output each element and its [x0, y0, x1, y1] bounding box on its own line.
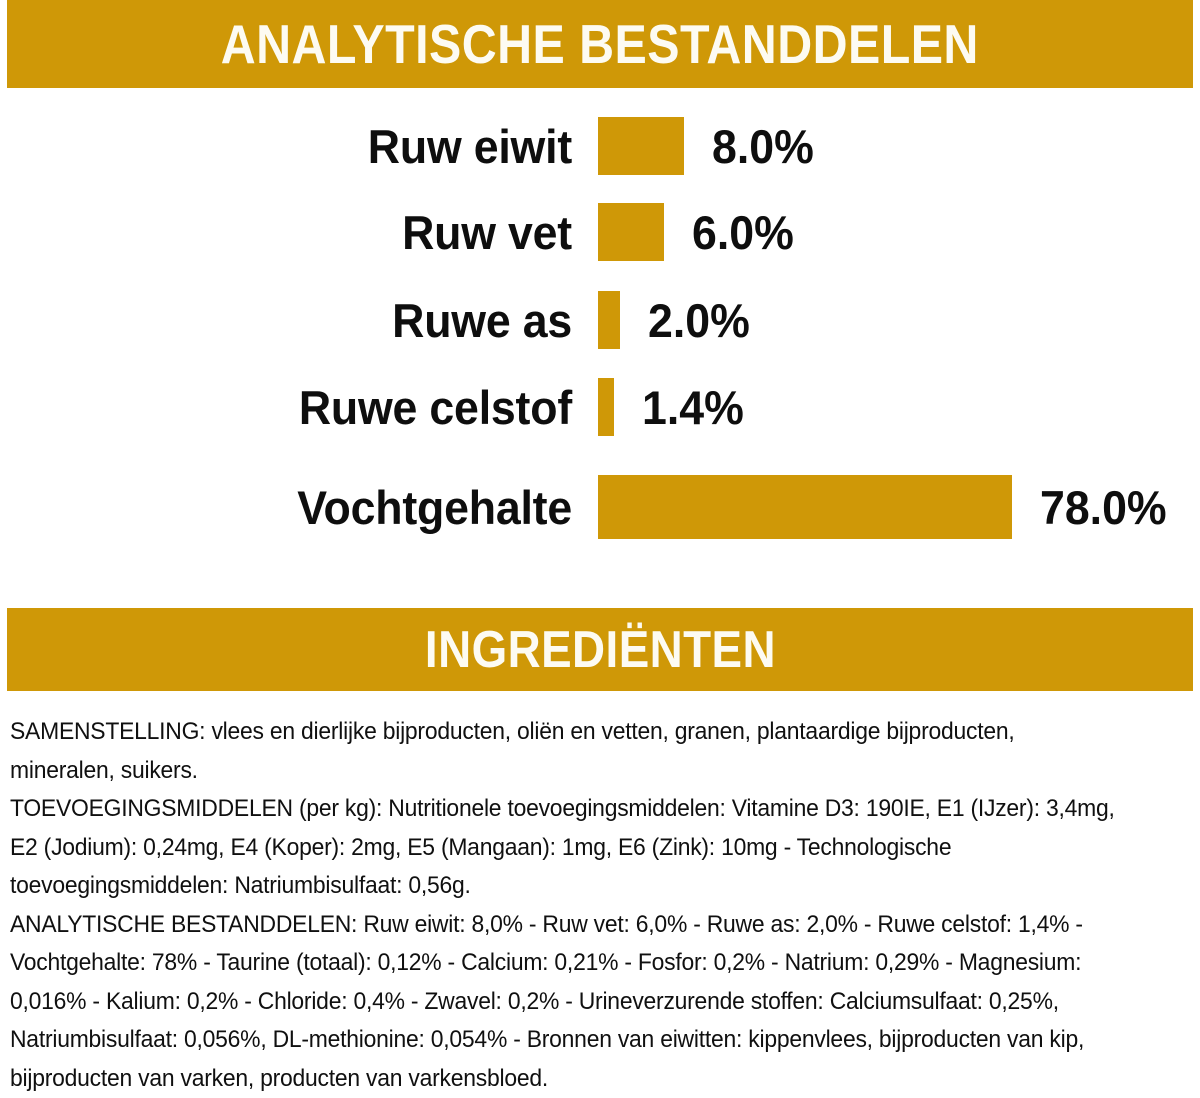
nutrition-panel: ANALYTISCHE BESTANDDELEN Ruw eiwit 8.0% …: [0, 0, 1200, 1061]
ingredients-paragraph-composition: SAMENSTELLING: vlees en dierlijke bijpro…: [10, 713, 1115, 790]
bar-label: Ruw vet: [29, 209, 572, 256]
analysis-banner-title: ANALYTISCHE BESTANDDELEN: [221, 17, 979, 72]
bar-row: Ruwe celstof 1.4%: [0, 363, 1200, 451]
bar-track: 2.0%: [598, 291, 755, 349]
bar-track: 8.0%: [598, 117, 819, 175]
bar-fill: [598, 475, 1012, 539]
bar-label: Ruw eiwit: [29, 123, 572, 170]
ingredients-paragraph-analytical: ANALYTISCHE BESTANDDELEN: Ruw eiwit: 8,0…: [10, 906, 1115, 1098]
ingredients-text-block: SAMENSTELLING: vlees en dierlijke bijpro…: [10, 713, 1115, 1098]
bar-value: 6.0%: [692, 209, 794, 256]
bar-row: Vochtgehalte 78.0%: [0, 463, 1200, 551]
bar-label: Ruwe as: [29, 297, 572, 344]
bar-track: 78.0%: [598, 475, 1173, 539]
bar-row: Ruwe as 2.0%: [0, 276, 1200, 364]
bar-label: Vochtgehalte: [29, 484, 572, 531]
bar-track: 6.0%: [598, 203, 799, 261]
bar-fill: [598, 378, 614, 436]
ingredients-section-banner: INGREDIËNTEN: [7, 608, 1193, 691]
bar-value: 2.0%: [648, 297, 750, 344]
bar-track: 1.4%: [598, 378, 749, 436]
bar-row: Ruw vet 6.0%: [0, 188, 1200, 276]
bar-fill: [598, 117, 684, 175]
analytical-constituents-bar-chart: Ruw eiwit 8.0% Ruw vet 6.0% Ruwe as 2.0%…: [0, 88, 1200, 588]
analysis-section-banner: ANALYTISCHE BESTANDDELEN: [7, 0, 1193, 88]
ingredients-banner-title: INGREDIËNTEN: [424, 624, 775, 676]
bar-row: Ruw eiwit 8.0%: [0, 102, 1200, 190]
bar-fill: [598, 203, 664, 261]
ingredients-paragraph-additives: TOEVOEGINGSMIDDELEN (per kg): Nutritione…: [10, 790, 1115, 906]
bar-value: 78.0%: [1040, 484, 1167, 531]
bar-label: Ruwe celstof: [29, 384, 572, 431]
bar-value: 1.4%: [642, 384, 744, 431]
bar-fill: [598, 291, 620, 349]
bar-value: 8.0%: [712, 123, 814, 170]
